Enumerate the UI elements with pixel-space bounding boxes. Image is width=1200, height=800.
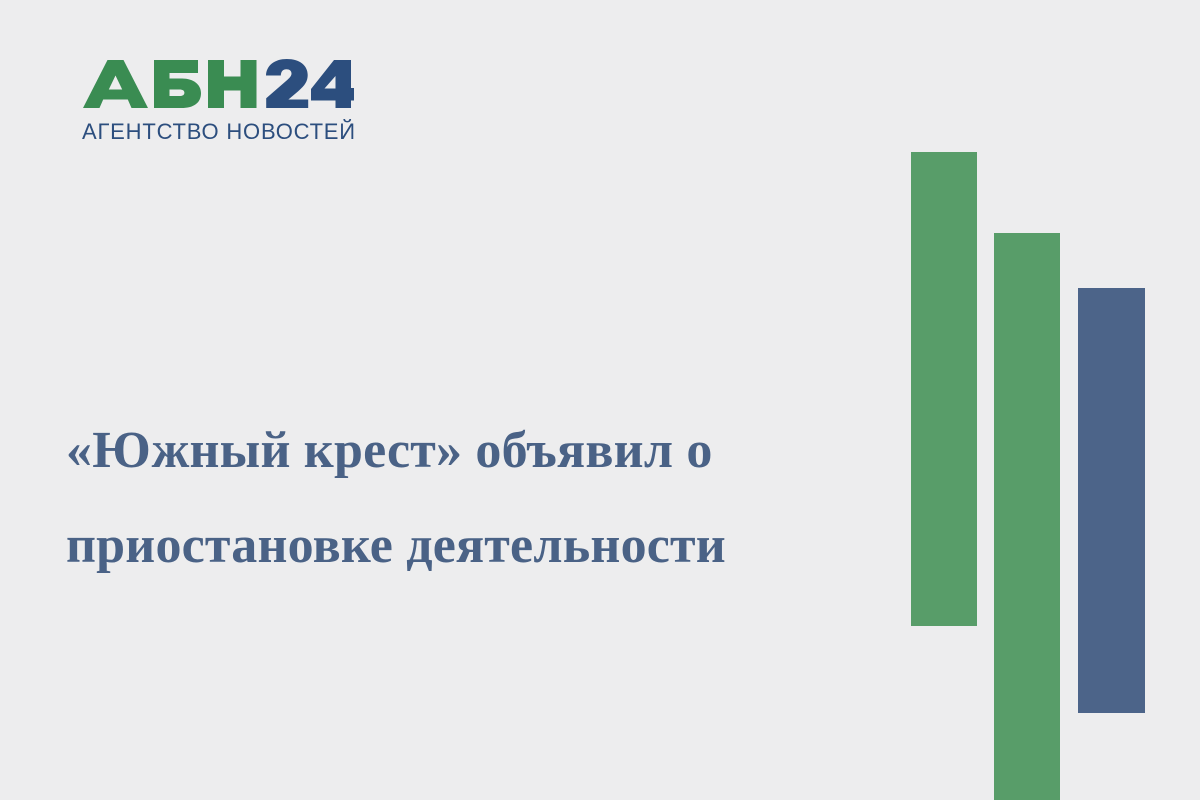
headline-line-1: «Южный крест» объявил о (66, 403, 866, 498)
news-card: АГЕНТСТВО НОВОСТЕЙ «Южный крест» объявил… (0, 0, 1200, 800)
decorative-bar-blue-short (1078, 288, 1145, 713)
logo-wordmark-icon (82, 58, 354, 110)
decorative-bar-green-tall (911, 152, 977, 626)
headline: «Южный крест» объявил о приостановке дея… (66, 403, 866, 593)
headline-line-2: приостановке деятельности (66, 498, 866, 593)
decorative-bar-green-medium (994, 233, 1060, 800)
brand-logo[interactable]: АГЕНТСТВО НОВОСТЕЙ (82, 58, 372, 158)
logo-tagline-text: АГЕНТСТВО НОВОСТЕЙ (82, 119, 356, 144)
logo-tagline-icon: АГЕНТСТВО НОВОСТЕЙ (82, 119, 362, 145)
